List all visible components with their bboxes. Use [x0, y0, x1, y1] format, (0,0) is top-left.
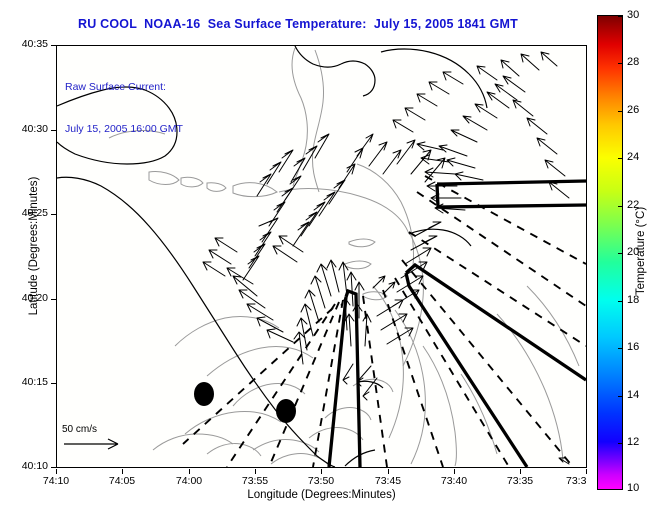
- annotation-line-1: Raw Surface Current:: [65, 80, 183, 94]
- y-tick-label: 40:25: [2, 207, 48, 219]
- annotation-line-2: July 15, 2005 16:00 GMT: [65, 122, 183, 136]
- x-tick-label: 74:05: [96, 475, 148, 487]
- right-arrow-icon: [62, 436, 128, 451]
- y-tick: [51, 467, 56, 468]
- y-tick: [51, 130, 56, 131]
- colorbar-tick: [618, 63, 623, 64]
- x-tick-label: 74:10: [30, 475, 82, 487]
- scale-legend-label: 50 cm/s: [62, 424, 128, 435]
- x-axis-label: Longitude (Degrees:Minutes): [56, 489, 587, 501]
- colorbar-tick-label: 14: [627, 389, 639, 401]
- colorbar-tick: [618, 16, 623, 17]
- colorbar-tick-label: 26: [627, 104, 639, 116]
- colorbar-tick: [618, 111, 623, 112]
- colorbar-tick: [618, 348, 623, 349]
- x-tick-label: 73:45: [362, 475, 414, 487]
- x-tick-label: 73:40: [428, 475, 480, 487]
- y-tick: [51, 214, 56, 215]
- x-tick-label: 73:35: [494, 475, 546, 487]
- colorbar-tick: [618, 396, 623, 397]
- x-tick: [122, 469, 123, 474]
- colorbar-tick-label: 30: [627, 9, 639, 21]
- radar-coverage-wedges: [329, 181, 586, 467]
- radar-station-markers: [194, 382, 296, 423]
- vector-scale-legend: 50 cm/s: [62, 424, 128, 451]
- figure-title: RU COOL NOAA-16 Sea Surface Temperature:…: [0, 17, 596, 31]
- radar-bearing-rays: [183, 176, 586, 467]
- y-tick-label: 40:15: [2, 376, 48, 388]
- colorbar-tick: [618, 158, 623, 159]
- y-tick-label: 40:10: [2, 460, 48, 472]
- x-tick: [388, 469, 389, 474]
- x-tick: [255, 469, 256, 474]
- raw-current-annotation: Raw Surface Current: July 15, 2005 16:00…: [65, 52, 183, 164]
- x-tick-label: 74:00: [163, 475, 215, 487]
- y-tick: [51, 383, 56, 384]
- surface-current-vectors: [203, 52, 569, 464]
- figure-canvas: RU COOL NOAA-16 Sea Surface Temperature:…: [0, 0, 651, 518]
- y-tick-label: 40:20: [2, 292, 48, 304]
- colorbar-tick: [618, 489, 623, 490]
- colorbar-tick-label: 28: [627, 56, 639, 68]
- y-tick-label: 40:35: [2, 38, 48, 50]
- y-tick: [51, 45, 56, 46]
- colorbar-tick: [618, 301, 623, 302]
- x-tick: [520, 469, 521, 474]
- x-tick: [56, 469, 57, 474]
- colorbar-tick-label: 12: [627, 436, 639, 448]
- colorbar-label: Temperature (°C): [635, 151, 647, 351]
- x-tick: [586, 469, 587, 474]
- y-tick: [51, 299, 56, 300]
- y-axis-label: Latitude (Degrees:Minutes): [28, 146, 40, 346]
- colorbar-tick: [618, 253, 623, 254]
- x-tick-label: 73:50: [295, 475, 347, 487]
- x-tick-label: 73:55: [229, 475, 281, 487]
- x-tick: [189, 469, 190, 474]
- colorbar-tick: [618, 443, 623, 444]
- y-tick-label: 40:30: [2, 123, 48, 135]
- x-tick: [321, 469, 322, 474]
- colorbar-tick: [618, 206, 623, 207]
- map-plot-area[interactable]: Raw Surface Current: July 15, 2005 16:00…: [56, 45, 587, 468]
- x-tick: [454, 469, 455, 474]
- colorbar-tick-label: 10: [627, 482, 639, 494]
